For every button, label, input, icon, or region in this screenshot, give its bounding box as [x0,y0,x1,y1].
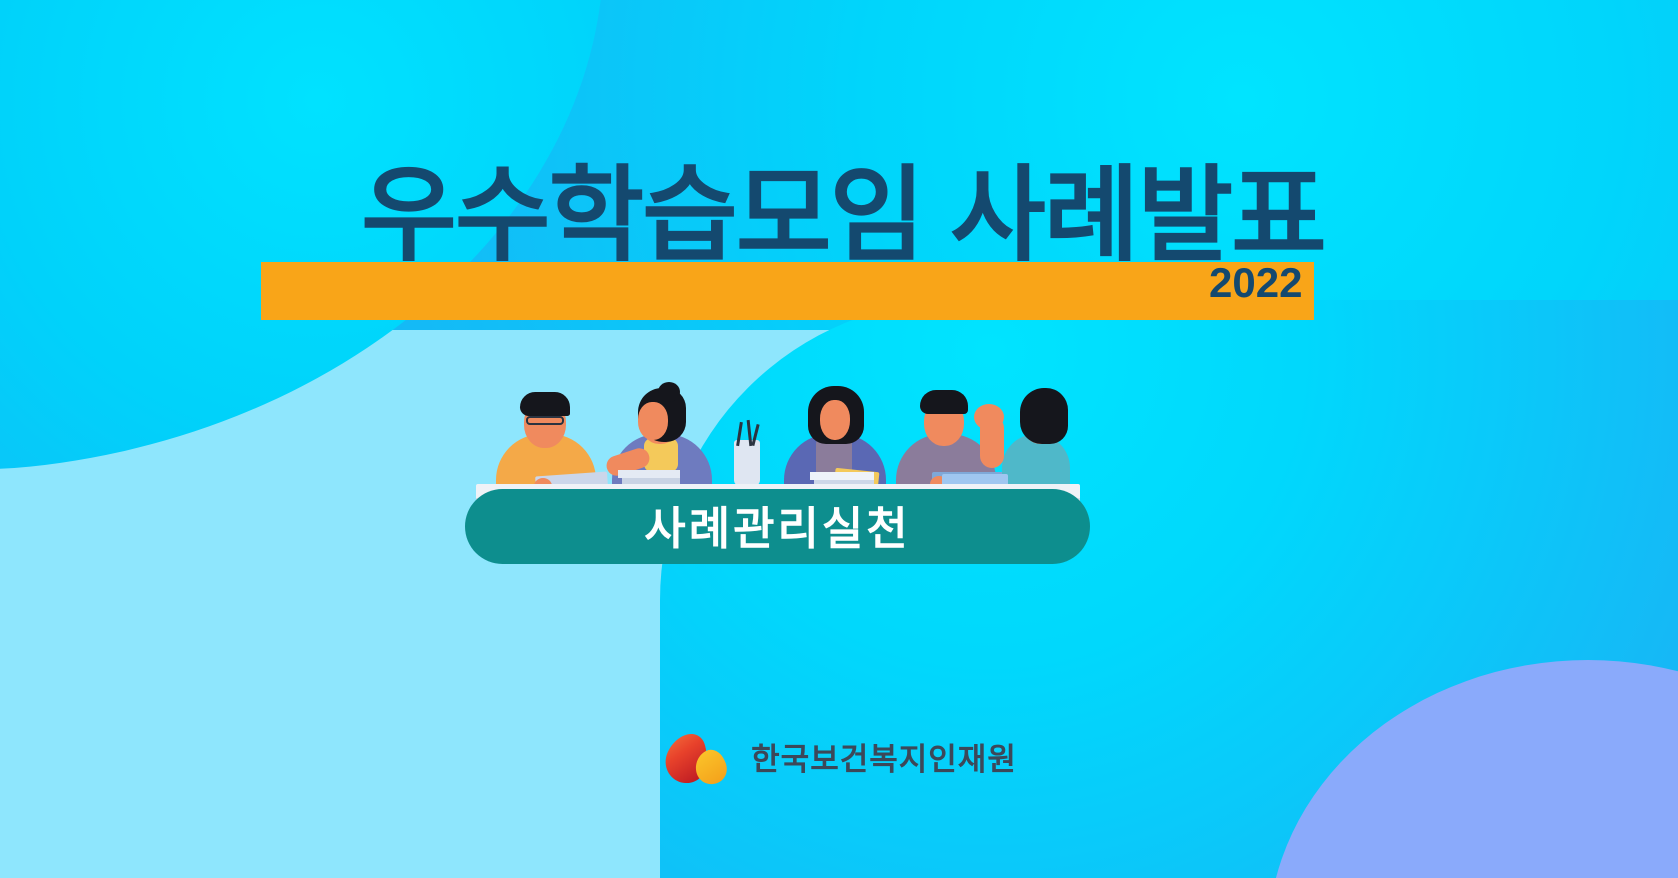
illustration-book-stack-1 [618,470,680,478]
title-year: 2022 [1209,262,1302,304]
person-5-raised-hand [974,404,1004,430]
title-block: 우수학습모임 사례발표 [0,150,1678,320]
person-2-hair-bun [658,382,680,402]
poster-canvas: 우수학습모임 사례발표 2022 [0,0,1678,878]
footer-logo-row: 한국보건복지인재원 [0,730,1678,788]
organization-name: 한국보건복지인재원 [751,744,1017,775]
person-1-glasses [526,416,564,425]
person-1-hair [520,392,570,416]
study-group-illustration [488,368,1066,500]
illustration-person-5 [988,378,1066,500]
person-5-hair [1020,388,1068,444]
illustration-pencil-cup [734,440,760,486]
kohi-logo-icon [661,730,733,788]
page-title: 우수학습모임 사례발표 [0,150,1678,282]
person-3-face [820,400,850,440]
status-badge: 사례관리실천 [465,489,1090,564]
person-4-hair [920,390,968,414]
person-2-face [638,402,668,440]
illustration-book-stack-3 [810,472,874,480]
badge-label: 사례관리실천 [644,506,910,551]
illustration-person-1 [492,382,600,500]
